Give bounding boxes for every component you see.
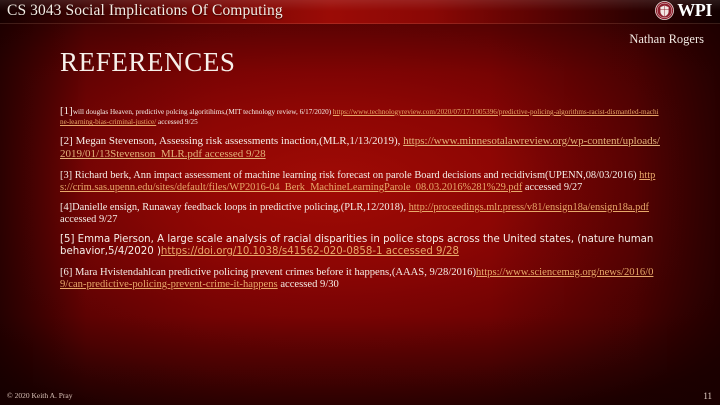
header-bar: CS 3043 Social Implications Of Computing… xyxy=(0,0,720,24)
references-list: [1]will douglas Heaven, predictive polci… xyxy=(60,105,660,298)
reference-text: will douglas Heaven, predictive polcing … xyxy=(73,108,333,116)
reference-link[interactable]: http://proceedings.mlr.press/v81/ensign1… xyxy=(409,202,649,213)
wpi-logo: WPI xyxy=(655,1,712,20)
wpi-seal-icon xyxy=(655,1,674,20)
reference-accessed: accessed 9/25 xyxy=(156,118,198,126)
reference-item: [2] Megan Stevenson, Assessing risk asse… xyxy=(60,135,660,161)
slide-root: CS 3043 Social Implications Of Computing… xyxy=(0,0,720,405)
reference-number: [1] xyxy=(60,105,73,117)
reference-accessed: accessed 9/27 xyxy=(60,214,117,225)
reference-item: [1]will douglas Heaven, predictive polci… xyxy=(60,105,660,127)
reference-number: [2] xyxy=(60,135,76,147)
reference-number: [5] xyxy=(60,234,78,245)
reference-text: Danielle ensign, Runaway feedback loops … xyxy=(72,202,408,213)
wpi-wordmark: WPI xyxy=(677,1,712,20)
footer-copyright: © 2020 Keith A. Pray xyxy=(7,391,73,400)
reference-number: [6] xyxy=(60,267,75,278)
reference-item: [6] Mara Hvistendahlcan predictive polic… xyxy=(60,267,660,292)
reference-accessed: accessed 9/30 xyxy=(278,279,339,290)
reference-item: [3] Richard berk, Ann impact assessment … xyxy=(60,170,660,194)
reference-link[interactable]: https://doi.org/10.1038/s41562-020-0858-… xyxy=(161,246,459,257)
presenter-name: Nathan Rogers xyxy=(629,32,704,47)
reference-accessed: accessed 9/27 xyxy=(522,182,582,193)
reference-item: [5] Emma Pierson, A large scale analysis… xyxy=(60,234,660,258)
reference-number: [4] xyxy=(60,202,72,213)
reference-text: Richard berk, Ann impact assessment of m… xyxy=(75,170,639,181)
reference-text: Megan Stevenson, Assessing risk assessme… xyxy=(76,135,404,147)
footer-page-number: 11 xyxy=(703,391,712,401)
reference-text: Mara Hvistendahlcan predictive policing … xyxy=(75,267,476,278)
reference-number: [3] xyxy=(60,170,75,181)
page-title: REFERENCES xyxy=(60,47,236,78)
reference-item: [4]Danielle ensign, Runaway feedback loo… xyxy=(60,202,660,226)
course-title: CS 3043 Social Implications Of Computing xyxy=(7,2,283,20)
